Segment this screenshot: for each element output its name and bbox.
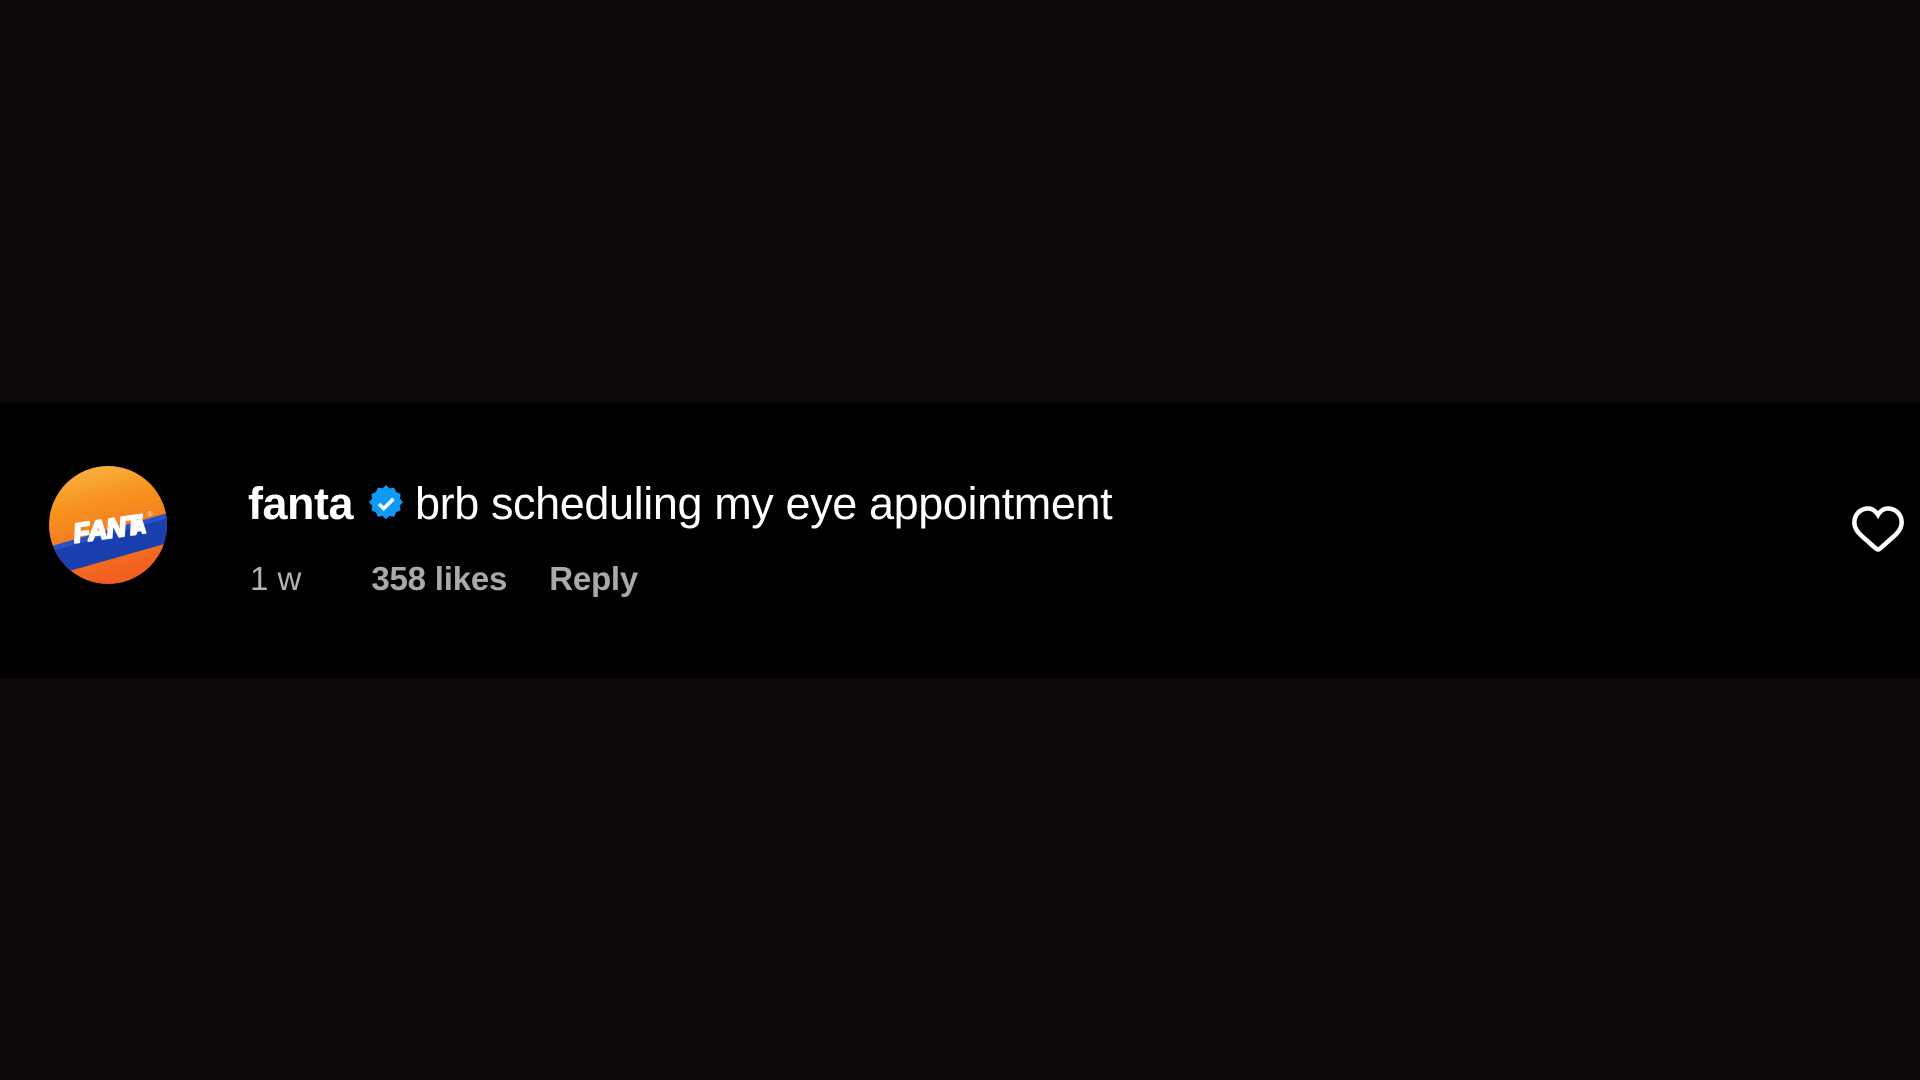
verified-badge-icon <box>366 484 406 524</box>
comment-like-button[interactable] <box>1848 499 1908 559</box>
comment-line: fanta brb scheduling my eye appointment <box>248 474 1112 534</box>
comment-likes-count[interactable]: 358 likes <box>371 560 507 598</box>
comment-row[interactable]: FANT A ® fanta brb sched <box>0 402 1920 678</box>
heart-outline-icon <box>1851 502 1905 556</box>
comment-timestamp: 1 w <box>250 560 301 598</box>
comment-body: fanta brb scheduling my eye appointment … <box>248 402 1808 678</box>
comment-text: brb scheduling my eye appointment <box>415 477 1112 531</box>
comment-band: FANT A ® fanta brb sched <box>0 402 1920 678</box>
comment-reply-button[interactable]: Reply <box>549 560 638 598</box>
avatar[interactable]: FANT A ® <box>48 465 168 585</box>
comment-username[interactable]: fanta <box>248 477 353 531</box>
svg-text:A: A <box>130 517 148 540</box>
fanta-brand-avatar-icon: FANT A ® <box>48 465 168 585</box>
comment-meta-row: 1 w 358 likes Reply <box>250 560 638 598</box>
screen: FANT A ® fanta brb sched <box>0 0 1920 1080</box>
